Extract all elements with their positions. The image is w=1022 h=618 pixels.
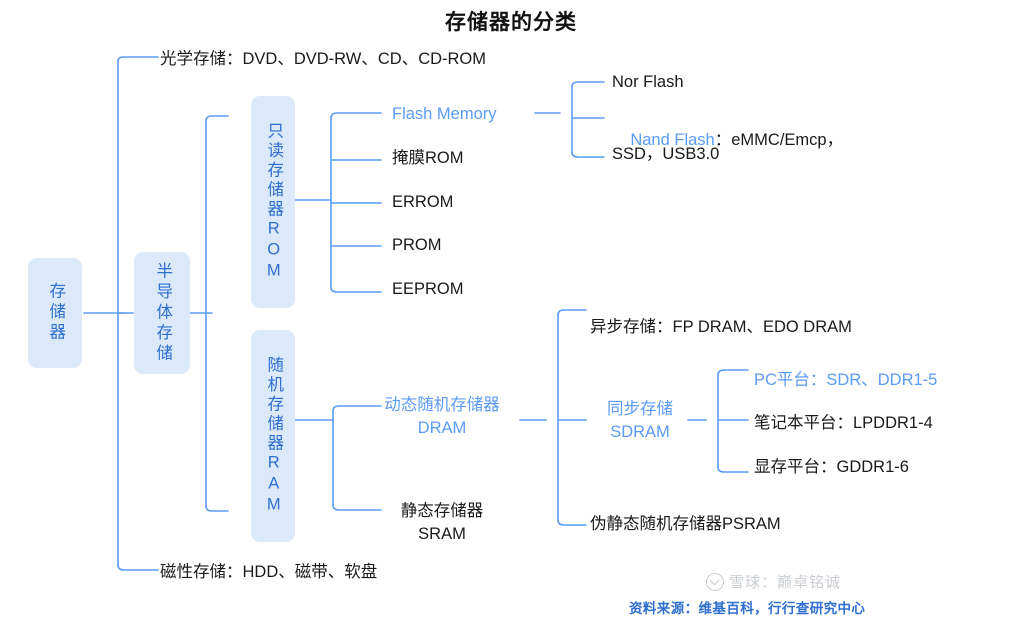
node-sdram: 同步存储 SDRAM: [590, 398, 690, 444]
node-ram: 随机存储器RAM: [251, 330, 295, 542]
watermark-text: 雪球：巅卓铭诚: [729, 571, 841, 592]
node-gpu-memory-platform: 显存平台：GDDR1-6: [754, 456, 909, 479]
page-title: 存储器的分类: [0, 6, 1022, 36]
node-sram: 静态存储器 SRAM: [362, 500, 522, 546]
node-rom-label: 只读存储器ROM: [261, 122, 284, 283]
watermark-logo-icon: [706, 573, 724, 591]
node-root: 存储器: [28, 258, 82, 368]
node-pc-platform: PC平台：SDR、DDR1-5: [754, 369, 937, 392]
node-semiconductor-storage: 半导体存储: [134, 252, 190, 374]
node-notebook-platform: 笔记本平台：LPDDR1-4: [754, 412, 933, 435]
node-nand-flash-value: ：eMMC/Emcp，: [715, 131, 843, 149]
node-prom: PROM: [392, 234, 442, 257]
node-flash-memory: Flash Memory: [392, 103, 497, 126]
node-errom: ERROM: [392, 191, 453, 214]
node-psram: 伪静态随机存储器PSRAM: [590, 513, 781, 536]
node-async-storage: 异步存储：FP DRAM、EDO DRAM: [590, 316, 852, 339]
node-magnetic-storage: 磁性存储：HDD、磁带、软盘: [160, 561, 377, 584]
source-note: 资料来源：维基百科，行行查研究中心: [629, 597, 865, 617]
node-dram: 动态随机存储器 DRAM: [362, 394, 522, 440]
node-eeprom: EEPROM: [392, 278, 464, 301]
node-ram-label: 随机存储器RAM: [261, 356, 284, 517]
watermark: 雪球：巅卓铭诚: [706, 571, 841, 592]
node-nand-flash-line2: SSD，USB3.0: [612, 143, 719, 166]
node-nor-flash: Nor Flash: [612, 71, 684, 94]
node-semiconductor-label: 半导体存储: [150, 262, 173, 365]
node-optical-storage: 光学存储：DVD、DVD-RW、CD、CD-ROM: [160, 48, 486, 71]
node-rom: 只读存储器ROM: [251, 96, 295, 308]
node-root-label: 存储器: [43, 282, 66, 344]
node-mask-rom: 掩膜ROM: [392, 147, 464, 170]
